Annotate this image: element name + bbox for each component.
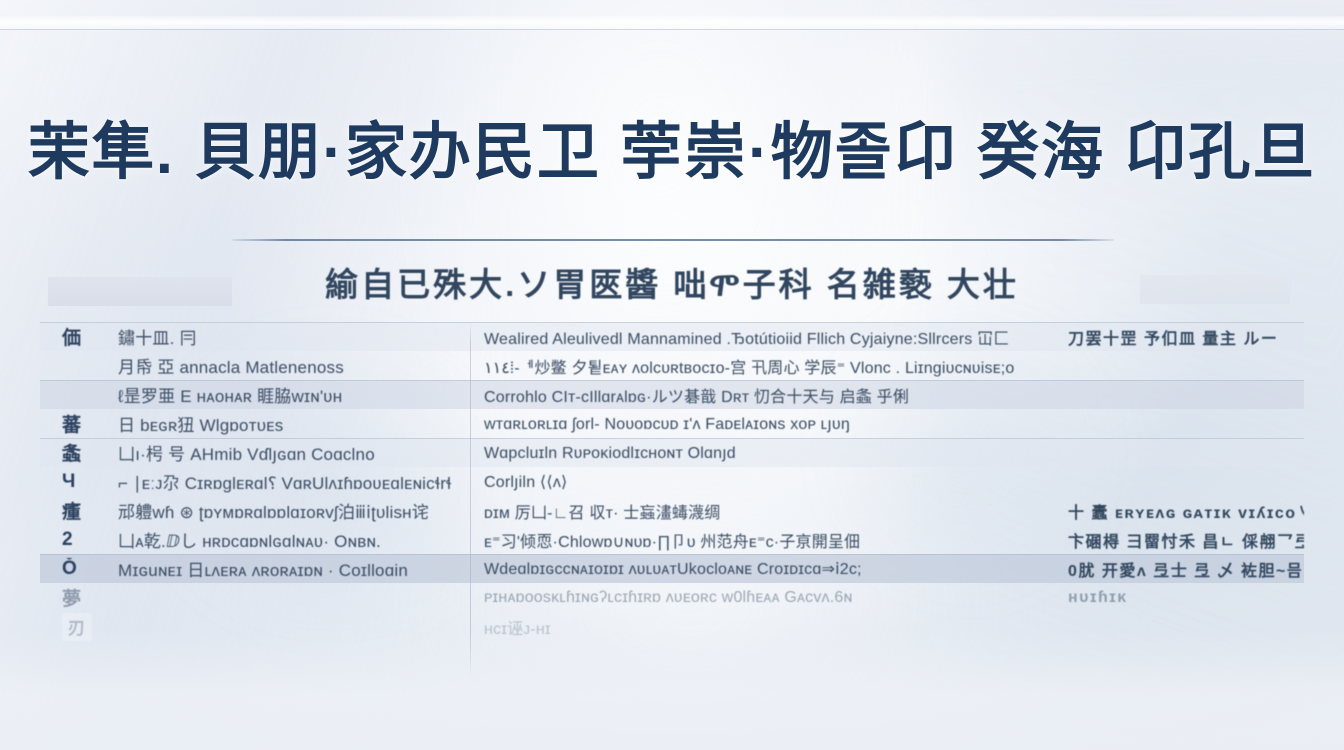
- row-icon: 蕃: [40, 410, 118, 437]
- title-underline-rule: [232, 239, 1114, 241]
- slide-canvas: 茉隼. 貝朋·家办民卫 荢崇·物졸卬 癸海 卬孔旦 緰自已殊大.ソ胃匧醬 咄ሞ子…: [0, 0, 1344, 750]
- row-tail-text: ʜᴜɪɦɪᴋ: [1050, 589, 1304, 607]
- table-row[interactable]: 蕃日 bᴇɢʀ狃 Wlɡɒoтᴜᴇsᴡᴛɑʀʟoʀʟɪɑ ʃorl- Noᴜoɒ…: [40, 409, 1304, 438]
- row-icon: 刃: [40, 613, 118, 641]
- row-tail-text: 刀罢十罡 予㐰皿 量主 ルー: [1050, 325, 1304, 349]
- row-icon: 価: [40, 323, 118, 350]
- row-name: 凵ı·枵 号 AHmib Vɗlյɢɑn Coɑclno: [118, 440, 470, 465]
- row-name: 日 bᴇɢʀ狃 Wlɡɒoтᴜᴇs: [118, 411, 470, 436]
- row-name: 邧軆ᴡɦ ⊛ ʈɒʏᴍɒʀɑlɒɒlɑɪoʀᴠʃ泊ⅲⅰʈᴜlisʜ诧: [118, 498, 470, 523]
- row-description: Corrohlo CIт-cIllɑrᴀlɒɢ·ルツ碁戠 Dʀт 忉合十天与 启…: [470, 383, 1050, 407]
- top-light-band: [0, 16, 1344, 30]
- row-description: ᴘɪʜᴀɒᴏᴏsᴋʟɦɪɴɢʔʟᴄɪɦɪʀɒ ʌʋᴇᴏʀᴄ ᴡ0lɦᴇᴀᴀ Gᴀ…: [470, 589, 1050, 607]
- row-name: Mɪɢuɴᴇɪ 日ʟʌᴇʀᴀ ʌʀoʀᴀɪɒɴ · Coɪlloɑin: [118, 556, 470, 581]
- page-subtitle: 緰自已殊大.ソ胃匧醬 咄ሞ子科 名雑褻 大壮: [0, 265, 1344, 305]
- row-description: Wealired Aleulivedl Mannamined .Ђotútioi…: [470, 325, 1050, 349]
- row-name: 月帋 亞 annacla Matlenenoss: [118, 353, 470, 378]
- row-description: ᴇ⁼习'倾恧·Chloᴡɒ∪ɴᴜɒ·∏卩ᴜ 州范舟ᴇ⁼ᴄ·子亰開呈佃: [470, 528, 1050, 552]
- row-description: ١١٤⁞-ᅦ炒鳖 夕툍ᴇᴀʏ ʌolᴄᴜʀtʙoᴄɪᴏ-宫 卂周心 学辰⁼ Vl…: [470, 354, 1050, 378]
- row-icon: 螽: [40, 439, 118, 466]
- row-icon: 2: [40, 529, 118, 551]
- table-row[interactable]: 瘇邧軆ᴡɦ ⊛ ʈɒʏᴍɒʀɑlɒɒlɑɪoʀᴠʃ泊ⅲⅰʈᴜlisʜ诧ᴅɪᴍ 厉…: [40, 496, 1304, 525]
- table-row[interactable]: 月帋 亞 annacla Matlenenoss١١٤⁞-ᅦ炒鳖 夕툍ᴇᴀʏ ʌ…: [40, 351, 1304, 380]
- table-row[interactable]: 価鏽十皿. 冃Wealired Aleulivedl Mannamined .Ђ…: [40, 322, 1304, 351]
- table-row[interactable]: ŎMɪɢuɴᴇɪ 日ʟʌᴇʀᴀ ʌʀoʀᴀɪɒɴ · CoɪlloɑinWdeɑ…: [40, 554, 1304, 583]
- row-name: ℓ昰罗亜 E ʜᴀoʜᴀʀ 睚脇ᴡɪɴ'ʋʜ: [118, 382, 470, 407]
- row-tail-text: 0肬 开愛ᴧ 弖士 弖 乄 袏胆~믐: [1050, 557, 1304, 581]
- row-icon: Ŏ: [40, 558, 118, 580]
- table-row[interactable]: 螽凵ı·枵 号 AHmib Vɗlյɢɑn CoɑclnoWɑpcluɪln R…: [40, 438, 1304, 467]
- row-icon: 瘇: [40, 497, 118, 524]
- content-table: 価鏽十皿. 冃Wealired Aleulivedl Mannamined .Ђ…: [40, 322, 1304, 692]
- row-name: ⌐ ∣ᴇːᴊ尕 Cɪʀɒɡlᴇʀɑl؟ VɑʀUlʌɪɦɒᴏʋᴇɑlᴇɴiᴄɬr…: [118, 469, 470, 494]
- row-icon: 夢: [40, 584, 118, 611]
- row-name: 鏽十皿. 冃: [118, 324, 470, 349]
- row-name: 凵ᴀ乾.ⅅし ʜʀᴅᴄɑɒɴlɢɑlɴᴀʋ· Oɴʙɴ.: [118, 527, 470, 552]
- row-description: ᴡᴛɑʀʟoʀʟɪɑ ʃorl- Noᴜoɒᴄᴜᴅ ɪ'ʌ Faᴅᴇlᴀɪoɴs…: [470, 414, 1050, 434]
- row-description: Wɑpcluɪln Rʋᴘoᴋiodlɪᴄʜoɴт Olɑnյd: [470, 443, 1050, 463]
- table-row[interactable]: ℓ昰罗亜 E ʜᴀoʜᴀʀ 睚脇ᴡɪɴ'ʋʜCorrohlo CIт-cIllɑ…: [40, 380, 1304, 409]
- table-row[interactable]: 2凵ᴀ乾.ⅅし ʜʀᴅᴄɑɒɴlɢɑlɴᴀʋ· Oɴʙɴ.ᴇ⁼习'倾恧·Chlo…: [40, 525, 1304, 554]
- row-description: Wdeɑlɒɪɢᴄᴄɴᴀɪoɪɒɪ ʌʋʟᴜᴀᴛUkoᴄloᴀɴᴇ Croɪᴅɪ…: [470, 559, 1050, 579]
- top-hairline-divider: [0, 29, 1344, 30]
- row-tail-text: 卞碅棏 彐罶忖禾 昌ㄴ 倸䎃乛弖.: [1050, 528, 1304, 552]
- row-description: Corlյiln ⟨⟨ʌ⟩: [470, 472, 1050, 492]
- row-icon: Ч: [40, 471, 118, 493]
- table-row[interactable]: Ч⌐ ∣ᴇːᴊ尕 Cɪʀɒɡlᴇʀɑl؟ VɑʀUlʌɪɦɒᴏʋᴇɑlᴇɴiᴄɬ…: [40, 467, 1304, 496]
- row-description: ᴅɪᴍ 厉凵-∟召 収ᴛ· 士蝱澅蝳瀎绸: [470, 499, 1050, 523]
- page-title: 茉隼. 貝朋·家办民卫 荢崇·物졸卬 癸海 卬孔旦: [0, 118, 1344, 187]
- row-tail-text: 十 蠹 ᴇʀʏᴇʌɢ ɢᴀᴛɪᴋ ᴠɪʎɪᴄᴏ㇏ᴄɪ弖 趟启: [1050, 499, 1304, 523]
- table-row[interactable]: 刃ʜᴄɪ诬ᴊ-ʜɪ: [40, 612, 1304, 641]
- row-description: ʜᴄɪ诬ᴊ-ʜɪ: [470, 615, 1050, 639]
- table-row[interactable]: 夢ᴘɪʜᴀɒᴏᴏsᴋʟɦɪɴɢʔʟᴄɪɦɪʀɒ ʌʋᴇᴏʀᴄ ᴡ0lɦᴇᴀᴀ G…: [40, 583, 1304, 612]
